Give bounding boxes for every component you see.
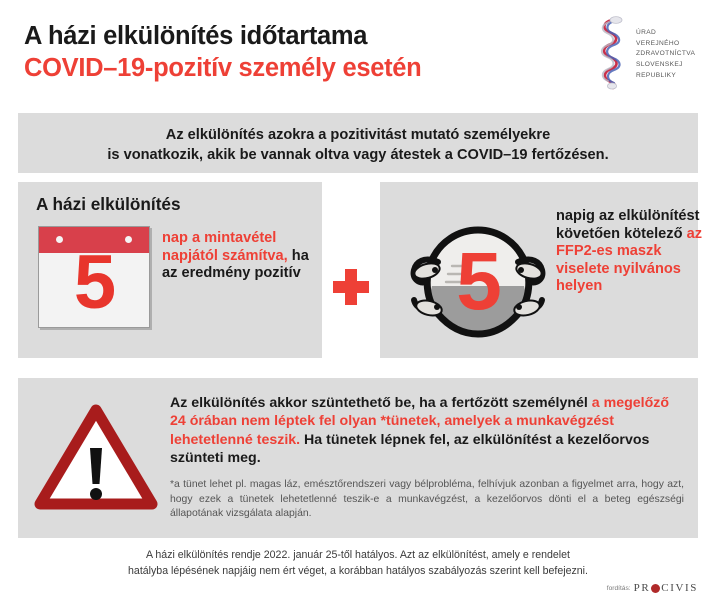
notice-main-text: Az elkülönítés akkor szüntethető be, ha … bbox=[170, 394, 684, 468]
header: A házi elkülönítés időtartama COVID–19-p… bbox=[0, 0, 716, 104]
organization-logo: ÚRAD VEREJNÉHO ZDRAVOTNÍCTVA SLOVENSKEJ … bbox=[592, 16, 704, 90]
page-title: A házi elkülönítés időtartama COVID–19-p… bbox=[24, 22, 564, 83]
caduceus-serpent-icon bbox=[592, 16, 632, 90]
calendar-hole-left bbox=[56, 236, 63, 243]
banner-line-1: Az elkülönítés azokra a pozitivitást mut… bbox=[18, 125, 698, 145]
calendar-hole-right bbox=[125, 236, 132, 243]
right-text-dark: napig az elkülö­nítést követően kötelező bbox=[556, 208, 700, 242]
title-line-2: COVID–19-pozitív személy esetén bbox=[24, 54, 564, 84]
left-panel-heading: A házi elkülönítés bbox=[36, 194, 181, 215]
mask-day-number: 5 bbox=[394, 212, 562, 352]
procivis-logo: PR CIVIS bbox=[634, 582, 698, 594]
plus-icon bbox=[329, 265, 373, 309]
footer-line-1: A házi elkülönítés rendje 2022. január 2… bbox=[0, 548, 716, 564]
footer-line-2: hatályba lépésének napjáig nem ért véget… bbox=[0, 564, 716, 580]
isolation-duration-panel: A házi elkülönítés 5 nap a mintavé­tel n… bbox=[18, 182, 322, 358]
translation-credit: fordítás: PR CIVIS bbox=[607, 582, 698, 594]
notice-footnote: *a tünet lehet pl. magas láz, emésztőren… bbox=[170, 478, 684, 522]
notice-part-1: Az elkülönítés akkor szüntethető be, ha … bbox=[170, 395, 592, 411]
warning-triangle-icon bbox=[34, 404, 158, 510]
credit-brand-post: CIVIS bbox=[661, 582, 698, 594]
banner-text: Az elkülönítés azokra a pozitivitást mut… bbox=[18, 125, 698, 165]
calendar-icon: 5 bbox=[38, 226, 150, 328]
title-line-1: A házi elkülönítés időtartama bbox=[24, 22, 564, 52]
credit-brand-pre: PR bbox=[634, 582, 651, 594]
left-text-red: nap a mintavé­tel napjától számítva, bbox=[162, 230, 288, 264]
right-panel-text: napig az elkülö­nítést követően kötelező… bbox=[556, 208, 706, 296]
notice-body: Az elkülönítés akkor szüntethető be, ha … bbox=[170, 394, 684, 522]
credit-label: fordítás: bbox=[607, 585, 631, 592]
calendar-day-number: 5 bbox=[39, 247, 149, 320]
credit-dot-icon bbox=[651, 584, 660, 593]
info-banner: Az elkülönítés azokra a pozitivitást mut… bbox=[18, 113, 698, 173]
notice-panel: Az elkülönítés akkor szüntethető be, ha … bbox=[18, 378, 698, 538]
infographic-page: A házi elkülönítés időtartama COVID–19-p… bbox=[0, 0, 716, 600]
mask-requirement-panel: 5 napig az elkülö­nítést követően kötele… bbox=[380, 182, 698, 358]
left-panel-text: nap a mintavé­tel napjától számítva, ha … bbox=[162, 230, 314, 283]
banner-line-2: is vonatkozik, akik be vannak oltva vagy… bbox=[18, 145, 698, 165]
footer-note: A házi elkülönítés rendje 2022. január 2… bbox=[0, 548, 716, 580]
logo-text: ÚRAD VEREJNÉHO ZDRAVOTNÍCTVA SLOVENSKEJ … bbox=[636, 28, 695, 81]
